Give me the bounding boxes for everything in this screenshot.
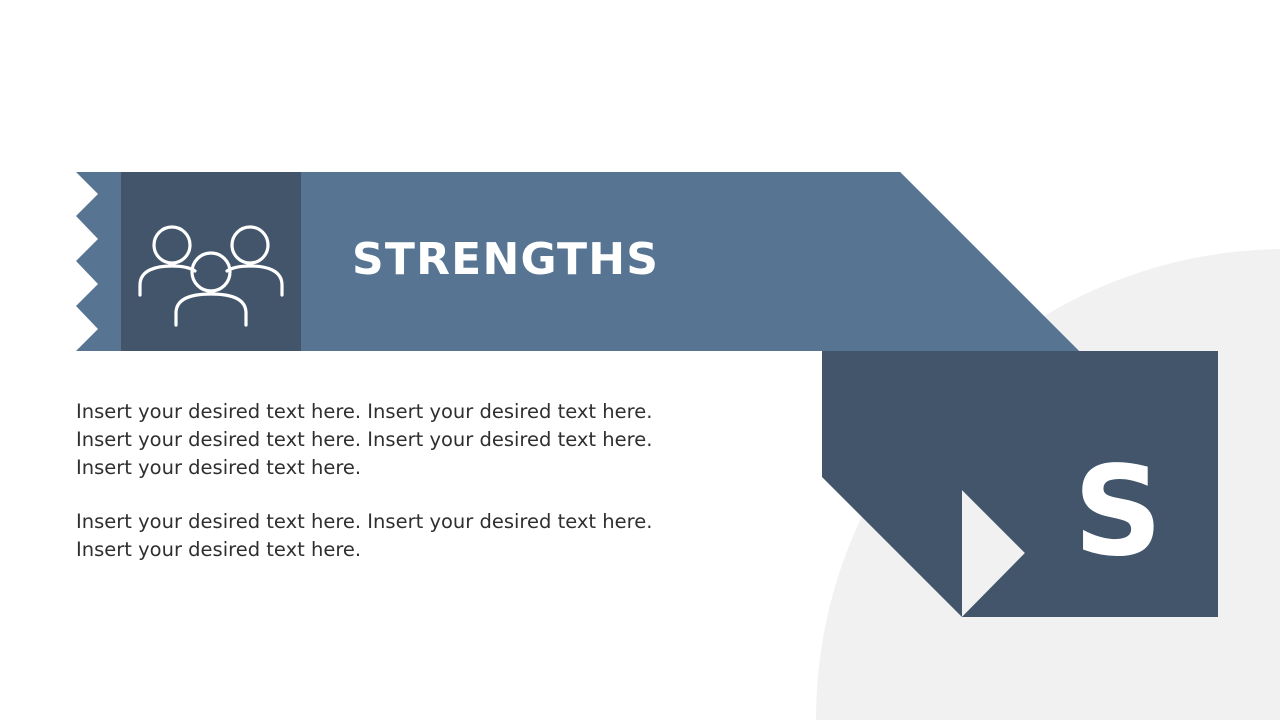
group-people-icon: [121, 172, 301, 351]
page-title: STRENGTHS: [352, 230, 659, 290]
body-copy: Insert your desired text here. Insert yo…: [76, 398, 691, 564]
icon-tile: [121, 172, 301, 351]
slide-canvas: STRENGTHS S Insert your desired text her…: [0, 0, 1280, 720]
body-paragraph-2[interactable]: Insert your desired text here. Insert yo…: [76, 508, 691, 564]
body-paragraph-1[interactable]: Insert your desired text here. Insert yo…: [76, 398, 691, 482]
ribbon-shapes: [0, 0, 1280, 720]
letter-badge: S: [1072, 455, 1164, 570]
